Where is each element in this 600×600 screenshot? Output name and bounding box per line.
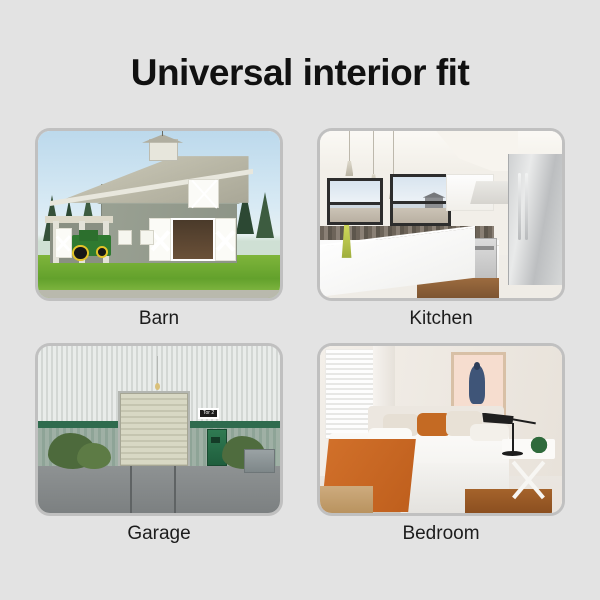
window-mullion [330, 202, 380, 205]
barn-window [140, 230, 155, 245]
page-title: Universal interior fit [0, 52, 600, 94]
image-grid: Barn [35, 128, 565, 546]
x-brace-icon [189, 180, 218, 206]
card-caption-garage: Garage [35, 523, 283, 546]
kitchen-window [390, 174, 451, 226]
antenna-icon [157, 356, 158, 386]
lamp-stem [512, 423, 514, 453]
side-table-x-legs [506, 456, 550, 506]
card-caption-barn: Barn [35, 308, 283, 331]
card-garage[interactable]: Tor 2 Garage [35, 343, 283, 546]
driveway [38, 290, 280, 298]
x-brace-icon [216, 219, 236, 260]
window-mullion [393, 201, 448, 204]
barn-window [118, 230, 133, 245]
shrub [77, 443, 111, 470]
rail-track [174, 466, 176, 513]
asphalt-apron [38, 466, 280, 513]
x-brace-icon [56, 229, 71, 257]
kitchen-window [327, 178, 383, 225]
weathervane-icon [162, 131, 163, 136]
barn-sliding-door [215, 218, 237, 261]
window-neighborhood [393, 208, 448, 224]
floor [320, 486, 373, 513]
card-frame-bedroom[interactable] [317, 343, 565, 516]
barn-photo [38, 131, 280, 298]
artwork-figure [469, 365, 486, 404]
card-frame-barn[interactable] [35, 128, 283, 301]
fridge-handle [525, 173, 528, 241]
barn-hay-door [188, 179, 219, 207]
garage-photo: Tor 2 [38, 346, 280, 513]
barn-main-doorway [171, 218, 215, 261]
window-sky [330, 181, 380, 205]
card-frame-garage[interactable]: Tor 2 [35, 343, 283, 516]
shed-door [55, 228, 72, 258]
card-barn[interactable]: Barn [35, 128, 283, 331]
door-frame [118, 391, 191, 468]
window-neighborhood [330, 208, 380, 222]
card-kitchen[interactable]: Kitchen [317, 128, 565, 331]
tractor-cabin [79, 230, 98, 242]
card-frame-kitchen[interactable] [317, 128, 565, 301]
potted-plant [526, 433, 553, 453]
pendant-cord [349, 131, 350, 161]
tractor-wheel [72, 245, 89, 262]
pendant-cord [373, 131, 374, 174]
dumpster [244, 449, 275, 472]
rail-track [130, 466, 132, 513]
grid-row-top: Barn [35, 128, 565, 331]
door-sign: Tor 2 [198, 408, 220, 420]
pine-tree-icon [256, 192, 274, 238]
card-caption-bedroom: Bedroom [317, 523, 565, 546]
bedroom-photo [320, 346, 562, 513]
poster-page: Universal interior fit [0, 0, 600, 600]
card-bedroom[interactable]: Bedroom [317, 343, 565, 546]
tractor-wheel [96, 246, 108, 258]
fridge-handle [518, 173, 521, 241]
card-caption-kitchen: Kitchen [317, 308, 565, 331]
grid-row-bottom: Tor 2 Garage [35, 343, 565, 546]
refrigerator [508, 154, 562, 284]
kitchen-photo [320, 131, 562, 298]
